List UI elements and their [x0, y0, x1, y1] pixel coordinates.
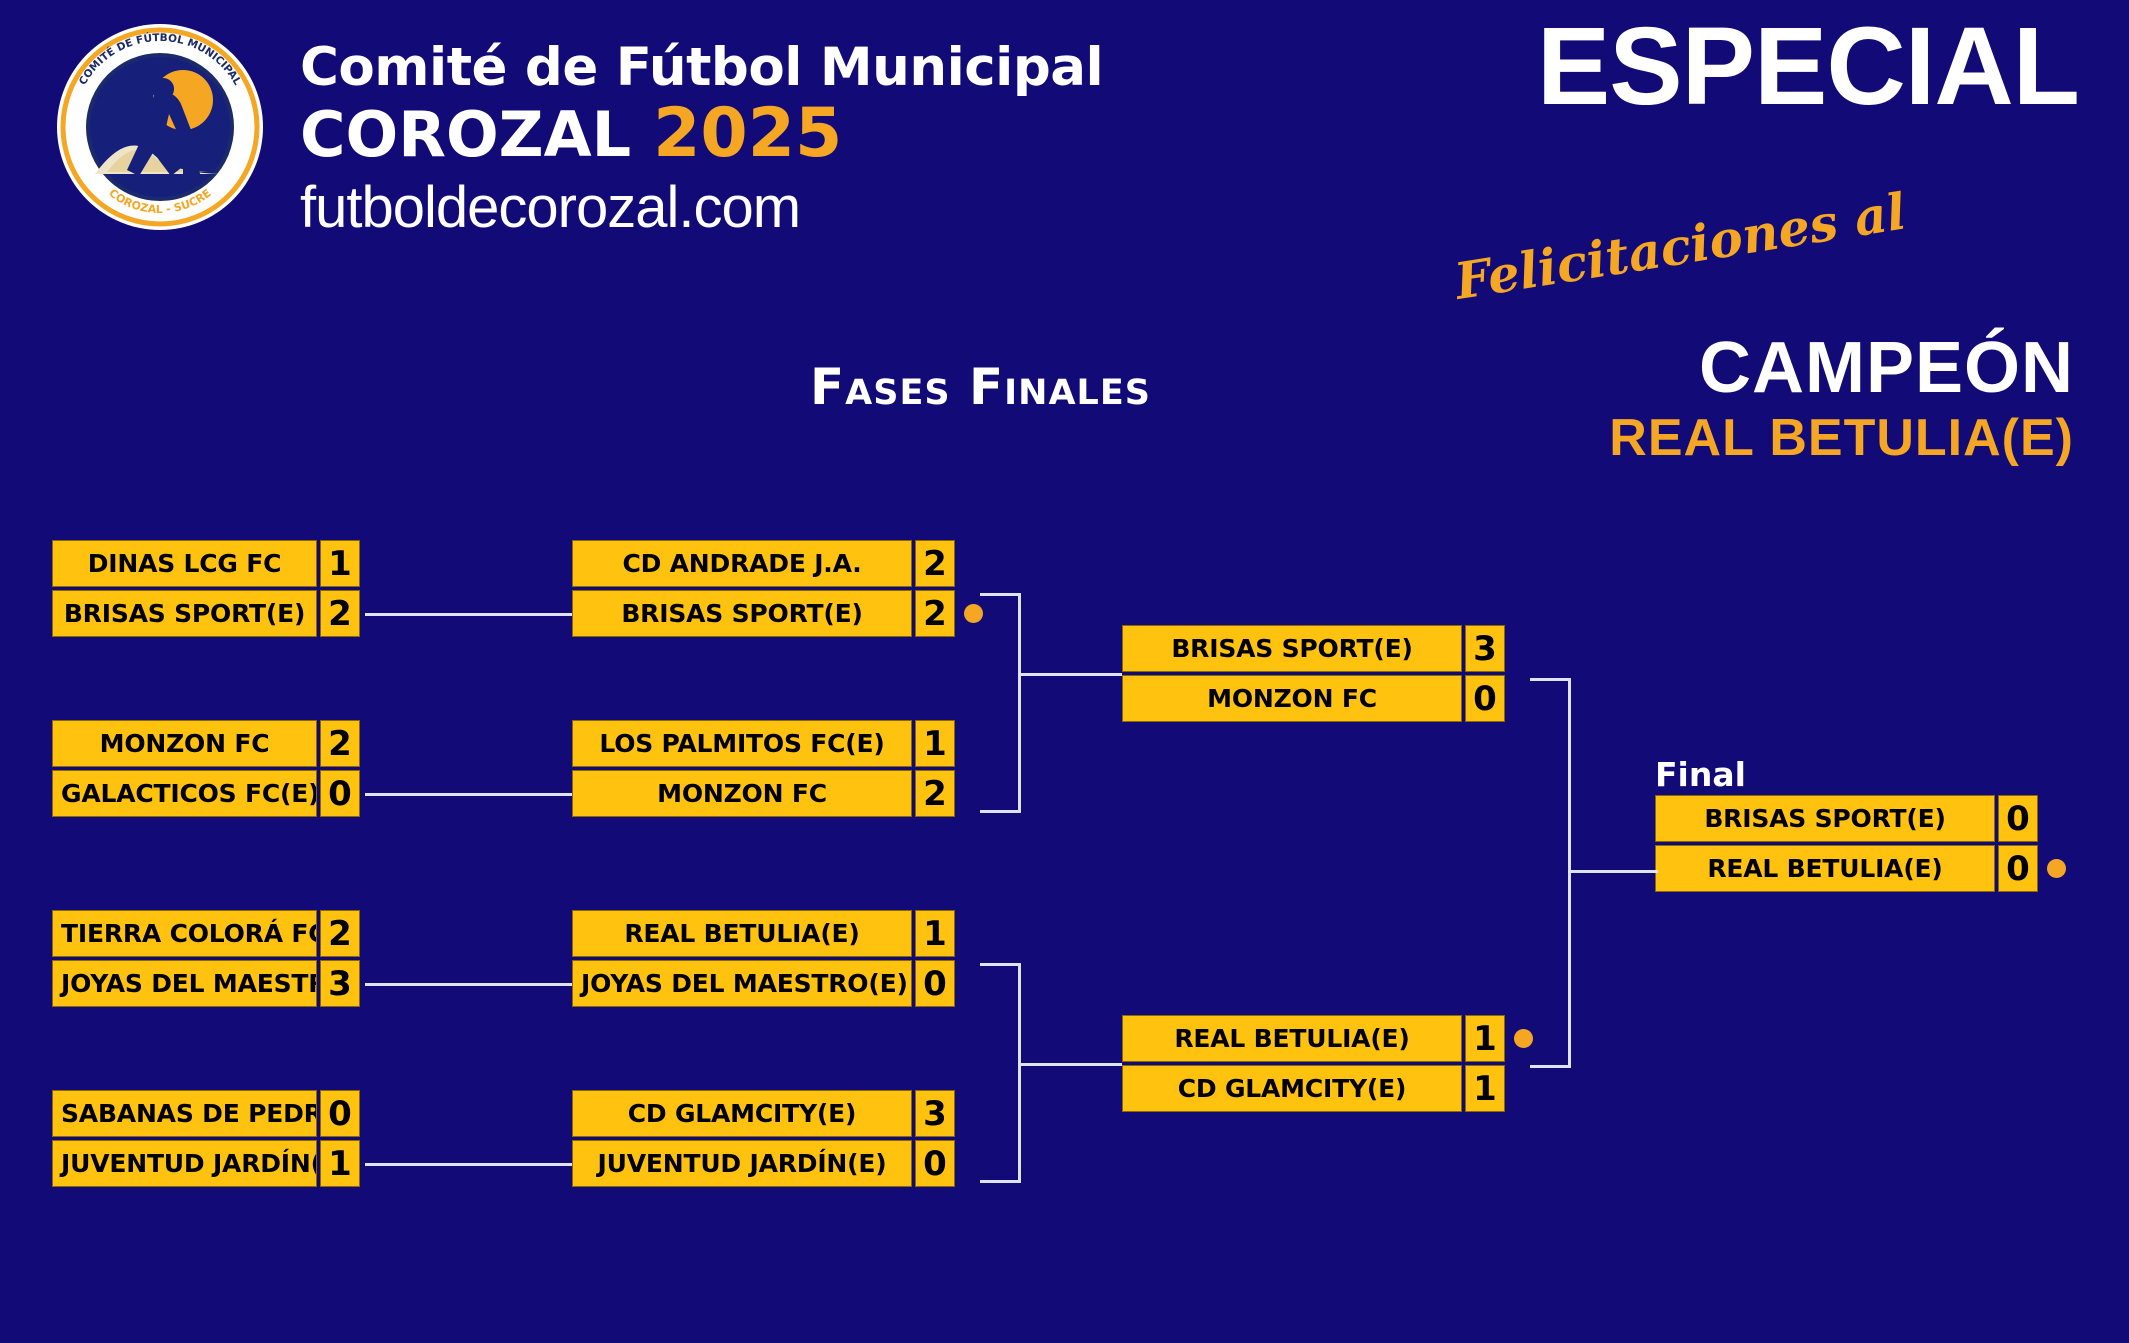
table-row[interactable]: MONZON FC 0 [1122, 675, 1527, 722]
team-slot[interactable]: BRISAS SPORT(E) [572, 590, 912, 637]
score-cell: 2 [320, 590, 360, 637]
team-slot[interactable]: BRISAS SPORT(E) [52, 590, 317, 637]
team-slot[interactable]: REAL BETULIA(E) [572, 910, 912, 957]
team-name: GALACTICOS FC(E) [61, 779, 308, 808]
score-cell: 1 [915, 720, 955, 767]
score-value: 1 [328, 1147, 352, 1181]
team-slot[interactable]: DINAS LCG FC [52, 540, 317, 587]
table-row[interactable]: JOYAS DEL MAESTRO(E) 3 [52, 960, 362, 1007]
team-name: REAL BETULIA(E) [581, 919, 903, 948]
table-row[interactable]: GALACTICOS FC(E) 0 [52, 770, 362, 817]
advance-marker-dot [964, 604, 983, 623]
match-r2-3: REAL BETULIA(E) 1 JOYAS DEL MAESTRO(E) 0 [572, 910, 977, 1007]
score-value: 0 [328, 777, 352, 811]
table-row[interactable]: MONZON FC 2 [572, 770, 977, 817]
team-name: JUVENTUD JARDÍN(E) [61, 1149, 308, 1178]
team-name: JOYAS DEL MAESTRO(E) [581, 969, 903, 998]
table-row[interactable]: CD GLAMCITY(E) 1 [1122, 1065, 1527, 1112]
connector-line [1568, 870, 1658, 873]
score-value: 3 [1473, 632, 1497, 666]
table-row[interactable]: REAL BETULIA(E) 0 [1655, 845, 2055, 892]
connector-line [1530, 678, 1570, 681]
team-name: TIERRA COLORÁ FC(E) [61, 919, 308, 948]
score-cell: 0 [915, 960, 955, 1007]
table-row[interactable]: LOS PALMITOS FC(E) 1 [572, 720, 977, 767]
connector-line [365, 793, 572, 796]
table-row[interactable]: MONZON FC 2 [52, 720, 362, 767]
team-slot[interactable]: MONZON FC [1122, 675, 1462, 722]
match-r2-4: CD GLAMCITY(E) 3 JUVENTUD JARDÍN(E) 0 [572, 1090, 977, 1187]
team-slot[interactable]: GALACTICOS FC(E) [52, 770, 317, 817]
table-row[interactable]: BRISAS SPORT(E) 2 [52, 590, 362, 637]
team-name: BRISAS SPORT(E) [581, 599, 903, 628]
score-value: 0 [1473, 682, 1497, 716]
final-round-label: Final [1655, 755, 1746, 794]
match-r2-2: LOS PALMITOS FC(E) 1 MONZON FC 2 [572, 720, 977, 817]
score-cell: 3 [915, 1090, 955, 1137]
connector-line [1018, 1063, 1122, 1066]
match-final: BRISAS SPORT(E) 0 REAL BETULIA(E) 0 [1655, 795, 2055, 895]
score-value: 1 [923, 917, 947, 951]
connector-line [1530, 1065, 1570, 1068]
table-row[interactable]: TIERRA COLORÁ FC(E) 2 [52, 910, 362, 957]
team-name: BRISAS SPORT(E) [1664, 804, 1986, 833]
advance-marker-dot [2047, 859, 2066, 878]
score-cell: 1 [915, 910, 955, 957]
score-cell: 1 [320, 540, 360, 587]
table-row[interactable]: BRISAS SPORT(E) 2 [572, 590, 977, 637]
score-cell: 0 [1998, 795, 2038, 842]
score-cell: 0 [915, 1140, 955, 1187]
score-cell: 0 [320, 1090, 360, 1137]
team-slot[interactable]: BRISAS SPORT(E) [1122, 625, 1462, 672]
score-cell: 0 [1465, 675, 1505, 722]
table-row[interactable]: CD ANDRADE J.A. 2 [572, 540, 977, 587]
team-name: JOYAS DEL MAESTRO(E) [61, 969, 308, 998]
score-value: 3 [328, 967, 352, 1001]
connector-line [365, 983, 572, 986]
team-slot[interactable]: CD GLAMCITY(E) [1122, 1065, 1462, 1112]
score-cell: 2 [915, 540, 955, 587]
table-row[interactable]: JUVENTUD JARDÍN(E) 0 [572, 1140, 977, 1187]
team-slot[interactable]: BRISAS SPORT(E) [1655, 795, 1995, 842]
team-slot[interactable]: CD ANDRADE J.A. [572, 540, 912, 587]
score-cell: 1 [1465, 1065, 1505, 1112]
score-value: 2 [328, 727, 352, 761]
connector-line [1018, 673, 1122, 676]
team-slot[interactable]: REAL BETULIA(E) [1655, 845, 1995, 892]
score-cell: 2 [915, 770, 955, 817]
team-slot[interactable]: MONZON FC [52, 720, 317, 767]
match-semifinal-2: REAL BETULIA(E) 1 CD GLAMCITY(E) 1 [1122, 1015, 1527, 1115]
table-row[interactable]: SABANAS DE PEDRO(E) 0 [52, 1090, 362, 1137]
score-value: 1 [1473, 1022, 1497, 1056]
score-value: 2 [923, 777, 947, 811]
connector-line [980, 1180, 1020, 1183]
team-name: MONZON FC [61, 729, 308, 758]
table-row[interactable]: JUVENTUD JARDÍN(E) 1 [52, 1140, 362, 1187]
connector-line [1018, 593, 1021, 813]
team-slot[interactable]: REAL BETULIA(E) [1122, 1015, 1462, 1062]
score-value: 0 [328, 1097, 352, 1131]
connector-line [1018, 963, 1021, 1183]
score-value: 1 [923, 727, 947, 761]
score-cell: 2 [320, 720, 360, 767]
connector-line [365, 613, 572, 616]
tournament-bracket-poster: COMITÉ DE FÚTBOL MUNICIPAL COROZAL - SUC… [0, 0, 2129, 1343]
team-slot[interactable]: CD GLAMCITY(E) [572, 1090, 912, 1137]
connector-line [980, 810, 1020, 813]
score-value: 2 [328, 597, 352, 631]
score-cell: 3 [320, 960, 360, 1007]
match-r2-1: CD ANDRADE J.A. 2 BRISAS SPORT(E) 2 [572, 540, 977, 640]
table-row[interactable]: CD GLAMCITY(E) 3 [572, 1090, 977, 1137]
score-value: 0 [923, 1147, 947, 1181]
team-name: JUVENTUD JARDÍN(E) [581, 1149, 903, 1178]
team-name: BRISAS SPORT(E) [61, 599, 308, 628]
table-row[interactable]: REAL BETULIA(E) 1 [572, 910, 977, 957]
match-r1-2: MONZON FC 2 GALACTICOS FC(E) 0 [52, 720, 362, 817]
connector-line [980, 963, 1020, 966]
team-name: MONZON FC [1131, 684, 1453, 713]
team-slot[interactable]: JUVENTUD JARDÍN(E) [52, 1140, 317, 1187]
table-row[interactable]: DINAS LCG FC 1 [52, 540, 362, 587]
match-r1-1: DINAS LCG FC 1 BRISAS SPORT(E) 2 [52, 540, 362, 637]
team-name: CD GLAMCITY(E) [581, 1099, 903, 1128]
team-name: REAL BETULIA(E) [1664, 854, 1986, 883]
score-cell: 2 [320, 910, 360, 957]
team-name: DINAS LCG FC [61, 549, 308, 578]
advance-marker-dot [1514, 1029, 1533, 1048]
match-r1-3: TIERRA COLORÁ FC(E) 2 JOYAS DEL MAESTRO(… [52, 910, 362, 1007]
team-slot[interactable]: MONZON FC [572, 770, 912, 817]
match-semifinal-1: BRISAS SPORT(E) 3 MONZON FC 0 [1122, 625, 1527, 722]
match-r1-4: SABANAS DE PEDRO(E) 0 JUVENTUD JARDÍN(E)… [52, 1090, 362, 1187]
team-slot[interactable]: TIERRA COLORÁ FC(E) [52, 910, 317, 957]
team-slot[interactable]: LOS PALMITOS FC(E) [572, 720, 912, 767]
score-value: 1 [328, 547, 352, 581]
score-cell: 3 [1465, 625, 1505, 672]
team-slot[interactable]: JOYAS DEL MAESTRO(E) [52, 960, 317, 1007]
table-row[interactable]: REAL BETULIA(E) 1 [1122, 1015, 1527, 1062]
score-cell: 0 [1998, 845, 2038, 892]
team-name: REAL BETULIA(E) [1131, 1024, 1453, 1053]
connector-line [1568, 678, 1571, 1068]
team-name: MONZON FC [581, 779, 903, 808]
team-name: SABANAS DE PEDRO(E) [61, 1099, 308, 1128]
team-slot[interactable]: JOYAS DEL MAESTRO(E) [572, 960, 912, 1007]
score-value: 1 [1473, 1072, 1497, 1106]
team-name: CD GLAMCITY(E) [1131, 1074, 1453, 1103]
team-name: CD ANDRADE J.A. [581, 549, 903, 578]
score-value: 0 [2006, 802, 2030, 836]
score-cell: 0 [320, 770, 360, 817]
team-name: BRISAS SPORT(E) [1131, 634, 1453, 663]
connector-line [365, 1163, 572, 1166]
score-cell: 2 [915, 590, 955, 637]
score-value: 2 [923, 547, 947, 581]
score-cell: 1 [1465, 1015, 1505, 1062]
connector-line [980, 593, 1020, 596]
score-value: 2 [923, 597, 947, 631]
score-value: 2 [328, 917, 352, 951]
team-slot[interactable]: JUVENTUD JARDÍN(E) [572, 1140, 912, 1187]
team-name: LOS PALMITOS FC(E) [581, 729, 903, 758]
team-slot[interactable]: SABANAS DE PEDRO(E) [52, 1090, 317, 1137]
table-row[interactable]: BRISAS SPORT(E) 0 [1655, 795, 2055, 842]
table-row[interactable]: JOYAS DEL MAESTRO(E) 0 [572, 960, 977, 1007]
table-row[interactable]: BRISAS SPORT(E) 3 [1122, 625, 1527, 672]
score-value: 0 [923, 967, 947, 1001]
score-cell: 1 [320, 1140, 360, 1187]
score-value: 0 [2006, 852, 2030, 886]
score-value: 3 [923, 1097, 947, 1131]
